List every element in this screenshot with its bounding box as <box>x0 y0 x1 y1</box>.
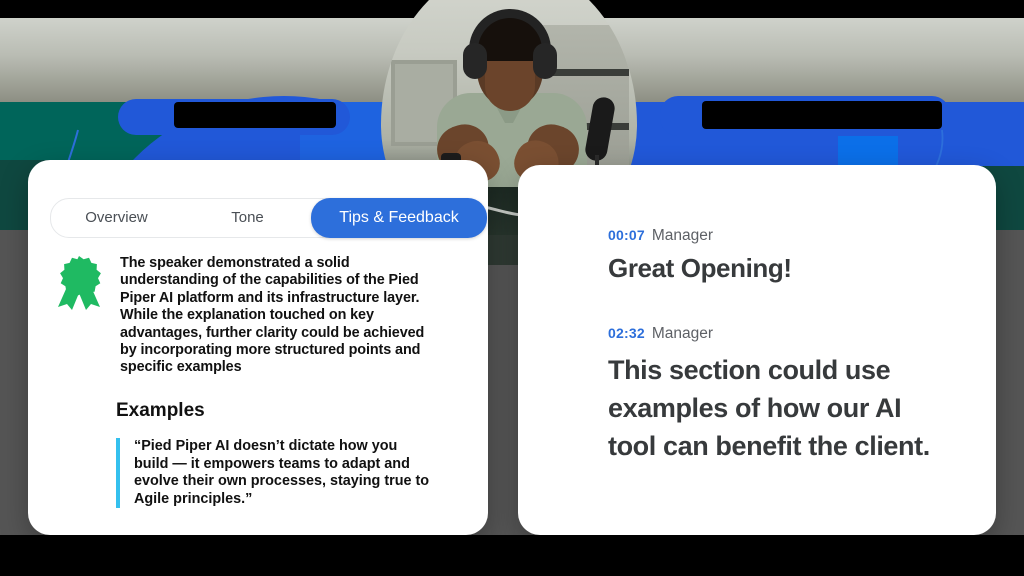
comment-entry[interactable]: 02:32Manager This section could use exam… <box>608 325 963 465</box>
tab-overview[interactable]: Overview <box>51 199 182 237</box>
summary-text: The speaker demonstrated a solid underst… <box>120 255 430 377</box>
comment-entry[interactable]: 00:07Manager Great Opening! <box>608 227 958 283</box>
award-rosette-icon <box>52 255 106 311</box>
feedback-card: Overview Tone Tips & Feedback The speake… <box>28 160 488 535</box>
comment-meta: 00:07Manager <box>608 227 958 245</box>
presenter-face <box>485 61 535 111</box>
comment-headline: Great Opening! <box>608 253 958 283</box>
comment-meta: 02:32Manager <box>608 325 963 343</box>
comment-author: Manager <box>652 325 713 342</box>
headphone-cup-right <box>533 43 557 79</box>
redaction-bar-right <box>702 101 942 129</box>
screenshot-stage: Overview Tone Tips & Feedback The speake… <box>0 0 1024 576</box>
comments-card: 00:07Manager Great Opening! 02:32Manager… <box>518 165 996 535</box>
example-quote: “Pied Piper AI doesn’t dictate how you b… <box>116 438 434 508</box>
examples-heading: Examples <box>116 400 205 422</box>
headphone-cup-left <box>463 43 487 79</box>
summary-block: The speaker demonstrated a solid underst… <box>52 255 472 377</box>
tab-tips-and-feedback[interactable]: Tips & Feedback <box>311 198 487 238</box>
comment-author: Manager <box>652 227 713 244</box>
comment-timestamp[interactable]: 02:32 <box>608 325 645 341</box>
tab-tone[interactable]: Tone <box>182 199 313 237</box>
comment-timestamp[interactable]: 00:07 <box>608 227 645 243</box>
letterbox-bottom <box>0 535 1024 576</box>
tab-bar: Overview Tone Tips & Feedback <box>50 198 464 238</box>
redaction-bar-left <box>174 102 336 128</box>
comment-headline: This section could use examples of how o… <box>608 351 938 465</box>
